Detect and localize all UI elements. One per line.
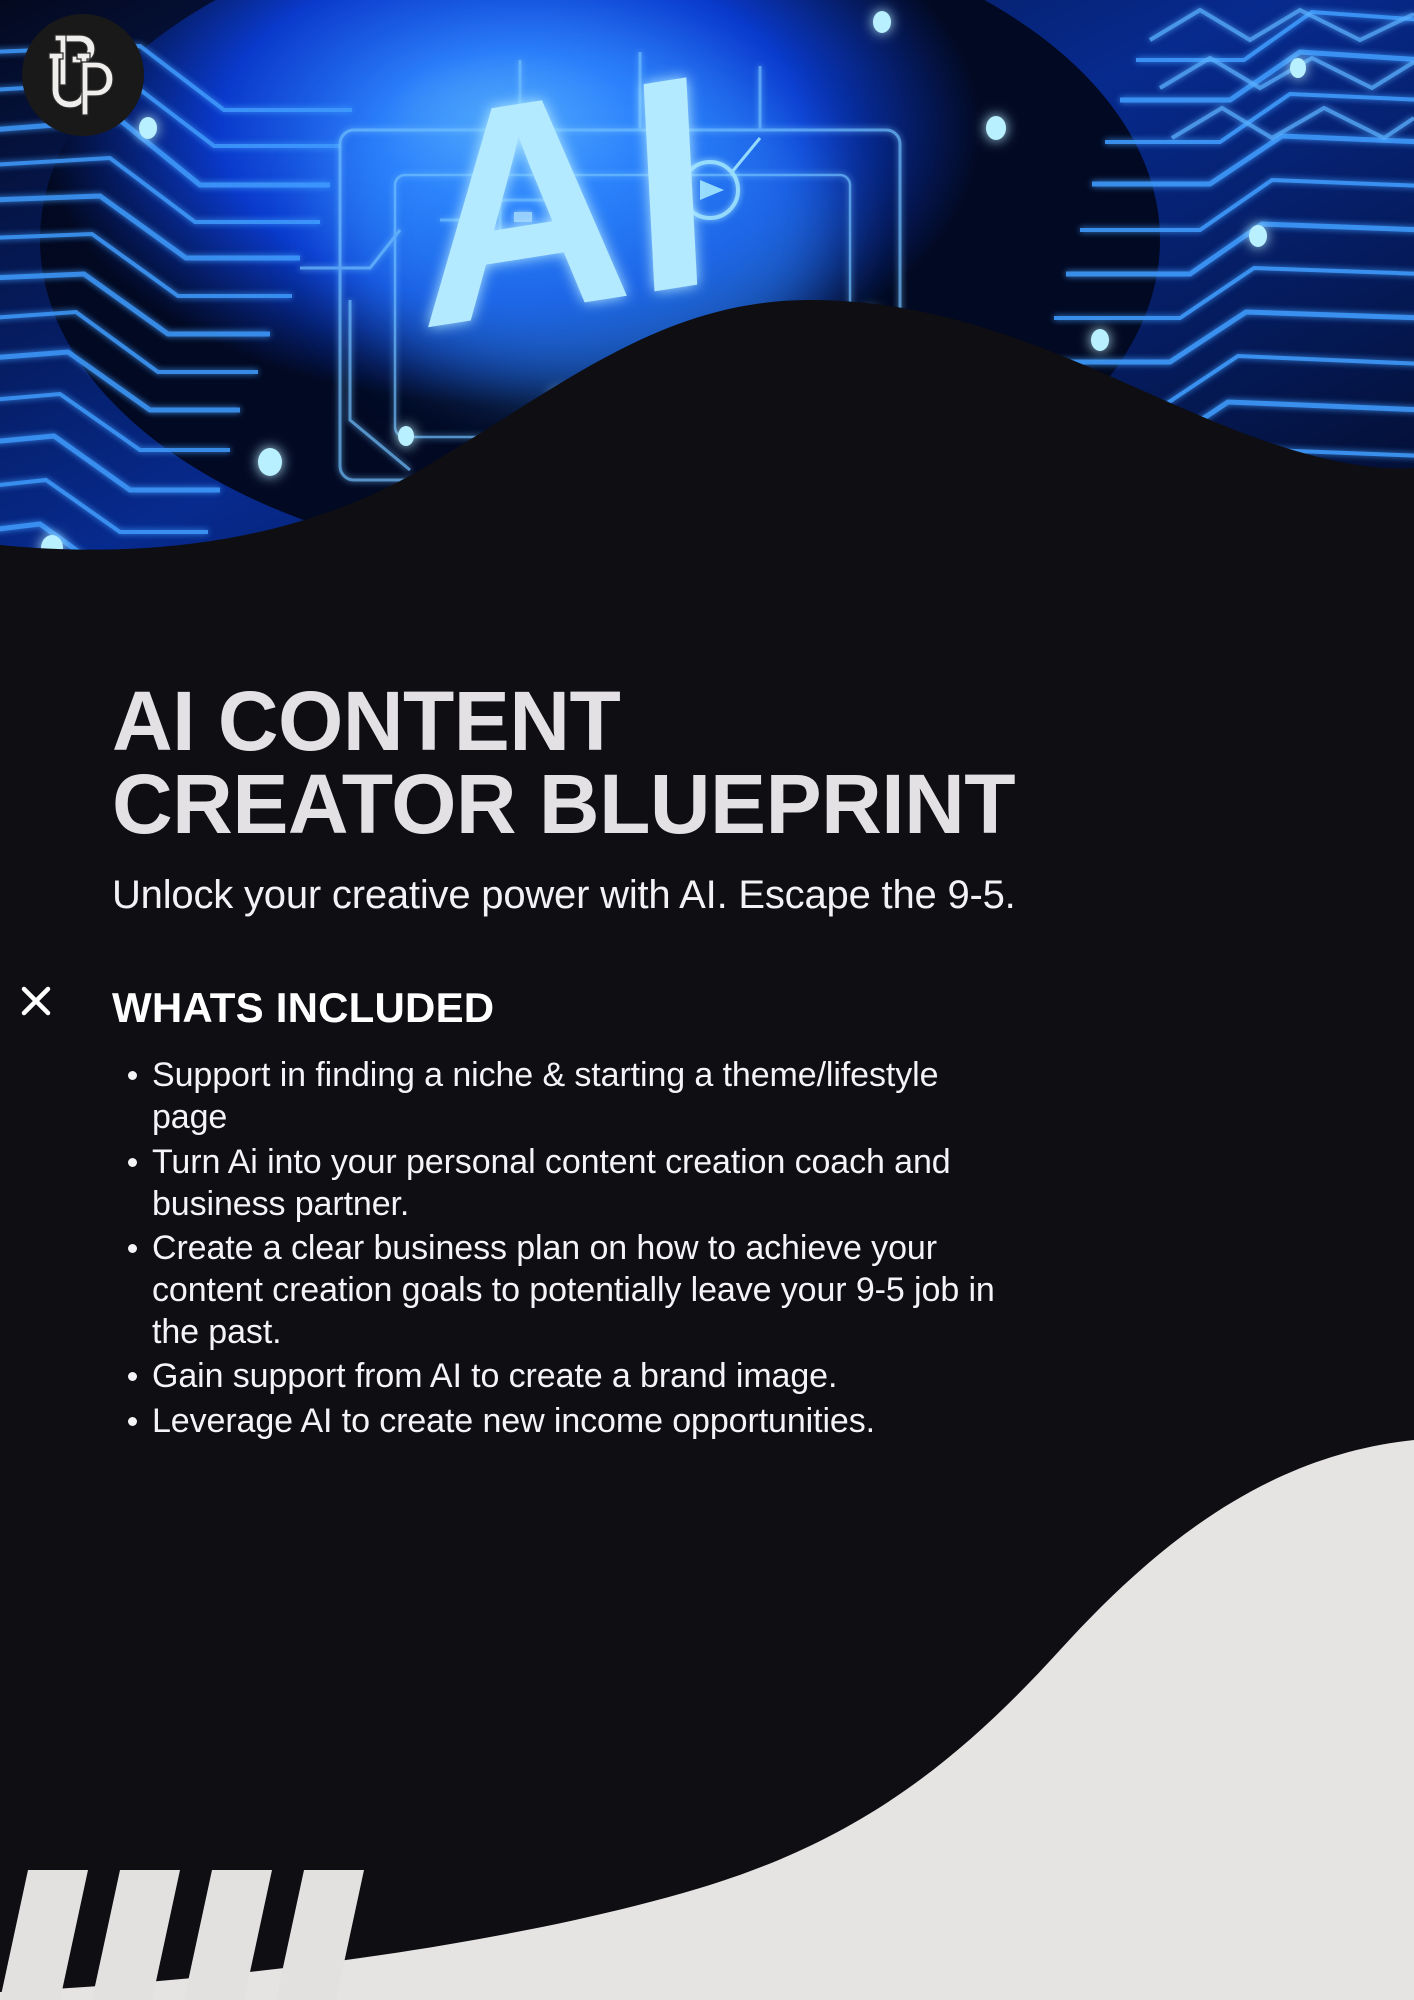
- included-list: Support in finding a niche & starting a …: [112, 1054, 1292, 1441]
- title-line-2: CREATOR BLUEPRINT: [112, 757, 1015, 851]
- upp-monogram-icon: [35, 27, 131, 123]
- page-title: AI CONTENT CREATOR BLUEPRINT: [112, 680, 1072, 846]
- close-icon: [15, 980, 57, 1022]
- hero-image: AI: [0, 0, 1414, 660]
- list-item: Turn Ai into your personal content creat…: [112, 1141, 1012, 1225]
- circuit-board-graphic: AI: [0, 0, 1414, 660]
- poster-root: AI: [0, 0, 1414, 2000]
- title-line-1: AI CONTENT: [112, 674, 620, 768]
- list-item: Leverage AI to create new income opportu…: [112, 1400, 1012, 1442]
- text-content: AI CONTENT CREATOR BLUEPRINT Unlock your…: [112, 680, 1292, 1444]
- section-heading-whats-included: WHATS INCLUDED: [112, 984, 1292, 1032]
- list-item: Gain support from AI to create a brand i…: [112, 1355, 1012, 1397]
- list-item: Create a clear business plan on how to a…: [112, 1227, 1012, 1353]
- list-item: Support in finding a niche & starting a …: [112, 1054, 1012, 1138]
- svg-text:AI: AI: [406, 9, 720, 392]
- subtitle: Unlock your creative power with AI. Esca…: [112, 872, 1292, 918]
- content-section: AI CONTENT CREATOR BLUEPRINT Unlock your…: [0, 640, 1414, 2000]
- close-button[interactable]: [15, 980, 57, 1022]
- diagonal-stripes-decor: [0, 1870, 460, 2000]
- upp-logo[interactable]: [22, 14, 144, 136]
